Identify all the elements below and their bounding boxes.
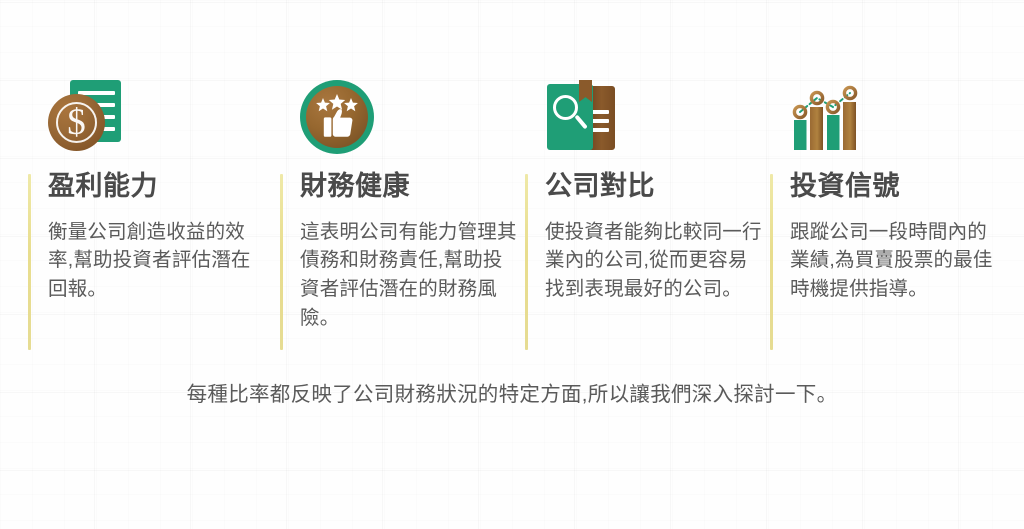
accent-bar	[28, 174, 31, 350]
card-title: 投資信號	[790, 172, 1000, 202]
card-body: 財務健康 這表明公司有能力管理其債務和財務責任,幫助投資者評估潛在的財務風險。	[280, 172, 497, 332]
bar-1	[794, 120, 807, 150]
bar-3	[827, 115, 840, 150]
footer-summary-text: 每種比率都反映了公司財務狀況的特定方面,所以讓我們深入探討一下。	[187, 382, 838, 409]
accent-bar	[280, 174, 283, 350]
card-description: 衡量公司創造收益的效率,幫助投資者評估潛在回報。	[48, 218, 266, 304]
accent-bar	[770, 174, 773, 350]
book-line	[592, 128, 609, 132]
star-group	[316, 94, 358, 111]
dollar-coin-icon: $	[48, 94, 105, 151]
feature-card-company-comparison: 公司對比 使投資者能夠比較同一行業內的公司,從而更容易找到表現最好的公司。	[497, 62, 742, 304]
footer-area: 每種比率都反映了公司財務狀況的特定方面,所以讓我們深入探討一下。	[0, 382, 1024, 409]
card-icon-slot	[770, 62, 1000, 154]
card-description: 跟蹤公司一段時間內的業績,為買賣股票的最佳時機提供指導。	[790, 218, 1004, 304]
trend-line	[800, 93, 850, 112]
card-description: 使投資者能夠比較同一行業內的公司,從而更容易找到表現最好的公司。	[545, 218, 763, 304]
slide-canvas: $ 盈利能力 衡量公司創造收益的效率,幫助投資者評估潛在回報。	[0, 0, 1024, 529]
bar-chart-trend-glyph	[790, 80, 868, 154]
card-body: 投資信號 跟蹤公司一段時間內的業績,為買賣股票的最佳時機提供指導。	[770, 172, 1000, 304]
thumb-shape	[324, 109, 353, 137]
card-title: 公司對比	[545, 172, 742, 202]
bar-4	[843, 102, 856, 150]
book-line	[592, 119, 609, 123]
card-body: 公司對比 使投資者能夠比較同一行業內的公司,從而更容易找到表現最好的公司。	[525, 172, 742, 304]
feature-card-profitability: $ 盈利能力 衡量公司創造收益的效率,幫助投資者評估潛在回報。	[0, 62, 252, 304]
card-body: 盈利能力 衡量公司創造收益的效率,幫助投資者評估潛在回報。	[28, 172, 252, 304]
card-title: 盈利能力	[48, 172, 252, 202]
document-coin-icon: $	[48, 80, 130, 154]
badge-inner-circle	[306, 86, 368, 148]
bar-2	[810, 107, 823, 150]
card-icon-slot	[280, 62, 497, 154]
bar-chart-trend-icon	[790, 80, 868, 154]
card-icon-slot	[525, 62, 742, 154]
dollar-sign-glyph: $	[48, 98, 105, 147]
feature-card-financial-health: 財務健康 這表明公司有能力管理其債務和財務責任,幫助投資者評估潛在的財務風險。	[252, 62, 497, 332]
accent-bar	[525, 174, 528, 350]
feature-card-investment-signal: 投資信號 跟蹤公司一段時間內的業績,為買賣股票的最佳時機提供指導。	[742, 62, 1000, 304]
card-icon-slot: $	[28, 62, 252, 154]
books-magnifier-icon	[545, 80, 623, 154]
book-line	[592, 110, 609, 114]
thumbs-up-glyph	[306, 86, 368, 148]
feature-card-row: $ 盈利能力 衡量公司創造收益的效率,幫助投資者評估潛在回報。	[0, 62, 1024, 332]
card-title: 財務健康	[300, 172, 497, 202]
card-description: 這表明公司有能力管理其債務和財務責任,幫助投資者評估潛在的財務風險。	[300, 218, 518, 333]
thumbs-up-stars-icon	[300, 80, 374, 154]
